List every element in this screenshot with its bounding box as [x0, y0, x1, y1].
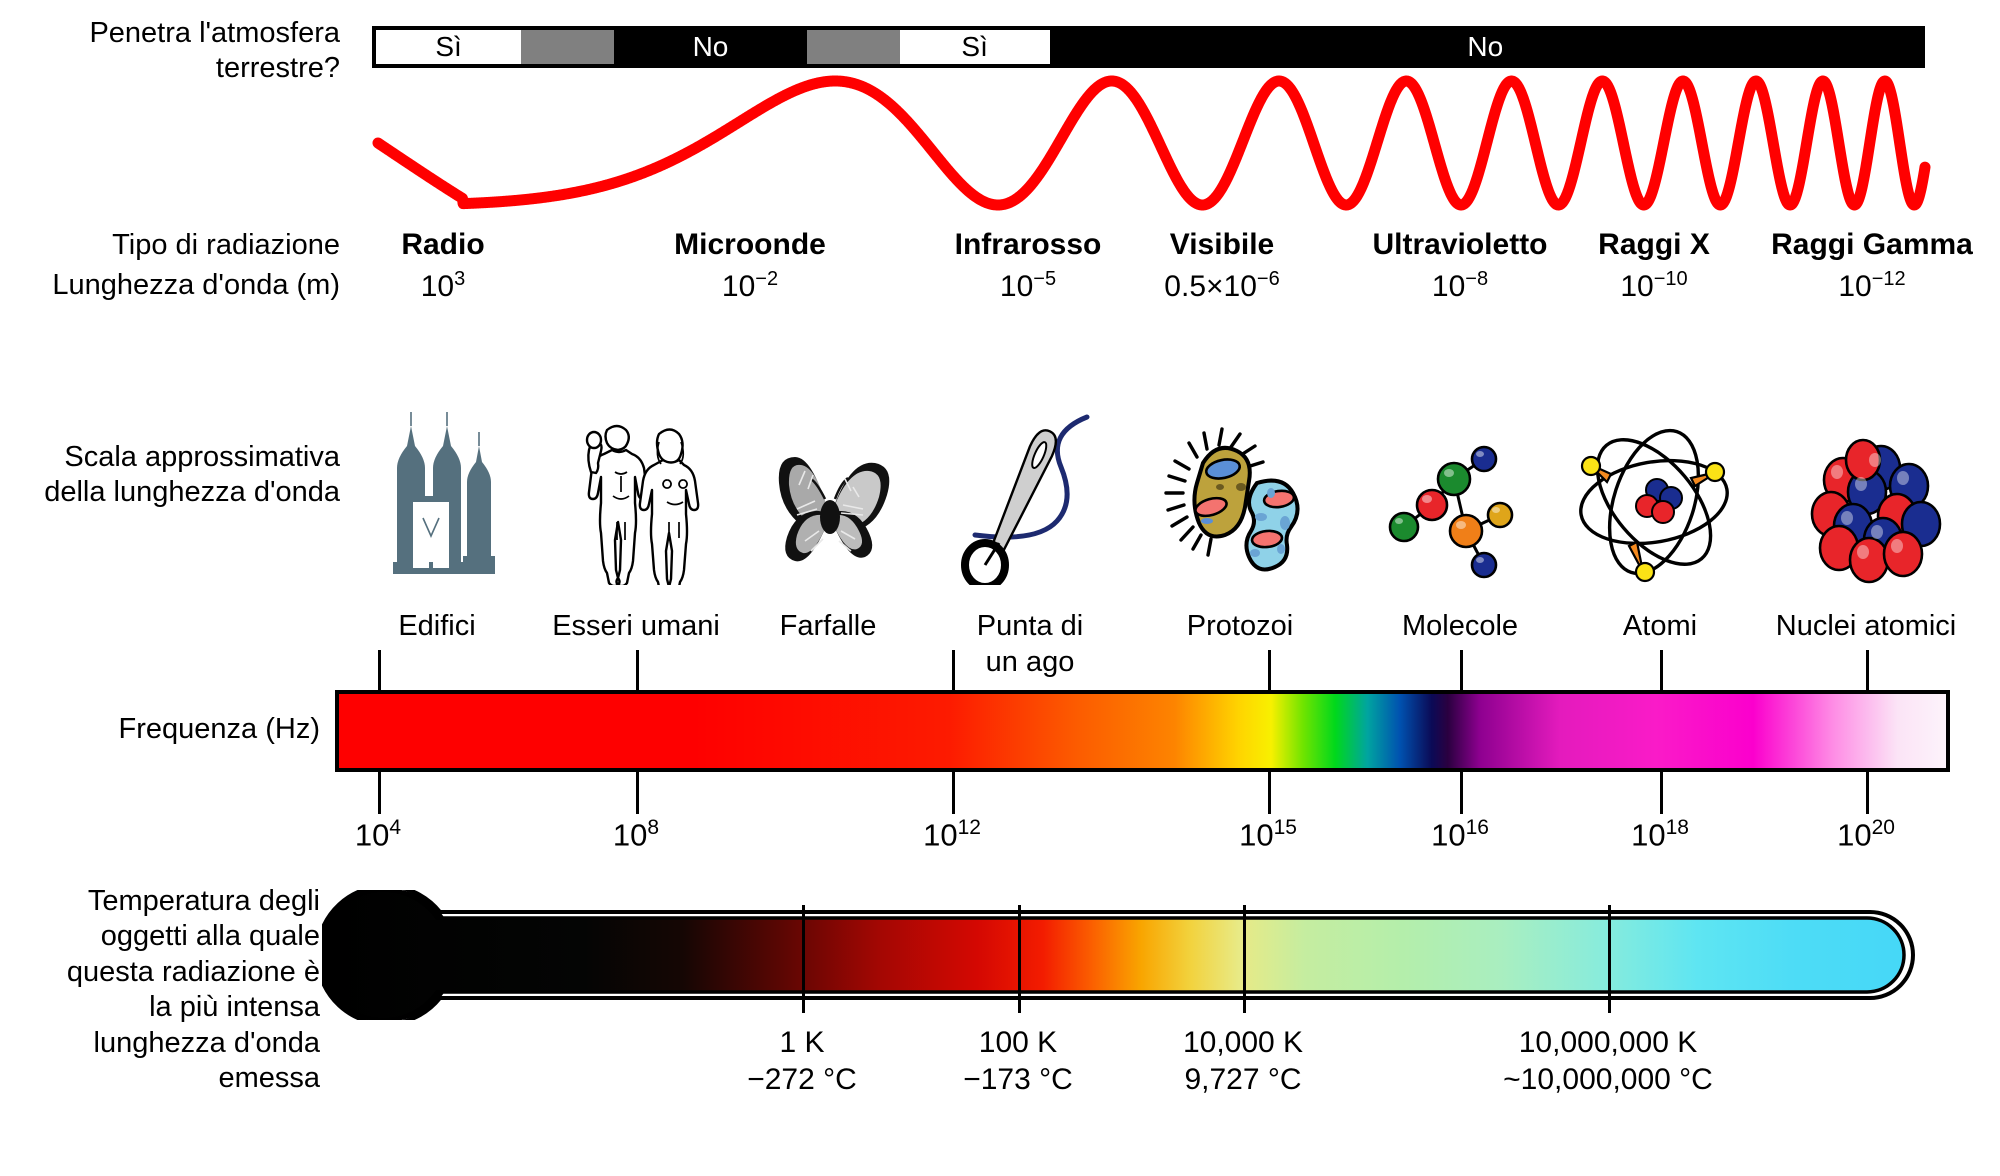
frequency-mantissa: 10 [1239, 817, 1273, 852]
wavelength-exponent: −2 [755, 268, 778, 290]
wave-graphic [340, 70, 1960, 215]
wavelength-value-6: 10−12 [1838, 268, 1905, 304]
radiation-type-row: RadioMicroondeInfrarossoVisibileUltravio… [0, 228, 2000, 264]
frequency-mantissa: 10 [1631, 817, 1665, 852]
temperature-kelvin: 100 K [963, 1025, 1073, 1062]
atmosphere-penetration-bar: SìNoSìNo [372, 26, 1925, 68]
temperature-celsius: −173 °C [963, 1062, 1073, 1099]
row-label-temperature: Temperatura deglioggetti alla qualequest… [0, 884, 320, 1096]
radiation-type-3: Visibile [1170, 228, 1275, 262]
frequency-exponent: 12 [958, 816, 981, 839]
em-spectrum-diagram: Penetra l'atmosferaterrestre? SìNoSìNo T… [0, 0, 2000, 1176]
frequency-tick-up-3 [1268, 650, 1271, 694]
atmosphere-segment-label: Sì [961, 33, 987, 61]
temperature-tick-0 [802, 905, 805, 1013]
wavelength-mantissa: 10 [421, 270, 454, 303]
frequency-mantissa: 10 [355, 817, 389, 852]
temperature-tick-label-2: 10,000 K9,727 °C [1183, 1025, 1303, 1099]
temperature-tick-label-1: 100 K−173 °C [963, 1025, 1073, 1099]
wavelength-row: 10310−210−50.5×10−610−810−1010−12 [0, 268, 2000, 308]
frequency-tick-label-2: 1012 [923, 816, 981, 853]
frequency-tick-label-4: 1016 [1431, 816, 1489, 853]
frequency-tick-down-0 [378, 768, 381, 814]
butterfly-icon [725, 360, 935, 585]
thermometer-graphic [322, 890, 1960, 1020]
atom-icon [1549, 360, 1759, 585]
frequency-exponent: 20 [1872, 816, 1895, 839]
wavelength-exponent: −10 [1654, 268, 1688, 290]
scale-icon-row [0, 360, 2000, 585]
frequency-spectrum-bar [335, 690, 1950, 772]
frequency-exponent: 8 [647, 816, 659, 839]
temperature-kelvin: 10,000 K [1183, 1025, 1303, 1062]
molecule-icon [1355, 360, 1565, 585]
temperature-tick-label-3: 10,000,000 K~10,000,000 °C [1503, 1025, 1713, 1099]
temperature-kelvin: 1 K [747, 1025, 857, 1062]
frequency-tick-down-6 [1866, 768, 1869, 814]
frequency-exponent: 15 [1274, 816, 1297, 839]
temperature-celsius: ~10,000,000 °C [1503, 1062, 1713, 1099]
wavelength-value-1: 10−2 [722, 268, 778, 304]
wavelength-mantissa: 10 [1838, 270, 1871, 303]
frequency-tick-up-1 [636, 650, 639, 694]
frequency-tick-up-4 [1460, 650, 1463, 694]
temperature-celsius: −272 °C [747, 1062, 857, 1099]
frequency-exponent: 4 [389, 816, 401, 839]
frequency-tick-down-3 [1268, 768, 1271, 814]
temperature-tick-3 [1608, 905, 1611, 1013]
frequency-mantissa: 10 [613, 817, 647, 852]
wavelength-mantissa: 10 [722, 270, 755, 303]
radiation-type-2: Infrarosso [955, 228, 1102, 262]
scale-name-6: Atomi [1623, 608, 1697, 644]
row-label-atmosphere: Penetra l'atmosferaterrestre? [10, 16, 340, 87]
atmosphere-segment-part-3 [807, 30, 900, 64]
frequency-tick-down-2 [952, 768, 955, 814]
wavelength-mantissa: 10 [1432, 270, 1465, 303]
radiation-type-5: Raggi X [1598, 228, 1710, 262]
frequency-tick-up-5 [1660, 650, 1663, 694]
wavelength-value-0: 103 [421, 268, 466, 304]
frequency-tick-down-5 [1660, 768, 1663, 814]
frequency-tick-label-3: 1015 [1239, 816, 1297, 853]
frequency-tick-up-0 [378, 650, 381, 694]
wavelength-exponent: −5 [1033, 268, 1056, 290]
atmosphere-segment-part-1 [521, 30, 614, 64]
radiation-type-0: Radio [401, 228, 484, 262]
frequency-mantissa: 10 [1431, 817, 1465, 852]
frequency-tick-label-1: 108 [613, 816, 659, 853]
temperature-tick-label-0: 1 K−272 °C [747, 1025, 857, 1099]
atmosphere-segment-no-2: No [614, 30, 807, 64]
scale-name-row: EdificiEsseri umaniFarfallePunta diun ag… [0, 608, 2000, 678]
wavelength-mantissa: 0.5×10 [1164, 270, 1257, 303]
scale-name-1: Esseri umani [552, 608, 720, 644]
scale-name-4: Protozoi [1187, 608, 1293, 644]
wavelength-exponent: −6 [1257, 268, 1280, 290]
frequency-tick-up-6 [1866, 650, 1869, 694]
frequency-tick-down-4 [1460, 768, 1463, 814]
temperature-kelvin: 10,000,000 K [1503, 1025, 1713, 1062]
frequency-tick-label-6: 1020 [1837, 816, 1895, 853]
wavelength-mantissa: 10 [1620, 270, 1653, 303]
row-label-frequency: Frequenza (Hz) [10, 712, 320, 747]
temperature-tick-2 [1243, 905, 1246, 1013]
wavelength-value-4: 10−8 [1432, 268, 1488, 304]
wavelength-exponent: −8 [1465, 268, 1488, 290]
atmosphere-segment-yes-4: Sì [900, 30, 1050, 64]
atmosphere-segment-label: No [1467, 33, 1503, 61]
frequency-mantissa: 10 [923, 817, 957, 852]
wavelength-exponent: 3 [454, 268, 465, 290]
radiation-type-1: Microonde [674, 228, 826, 262]
wavelength-value-2: 10−5 [1000, 268, 1056, 304]
frequency-tick-label-0: 104 [355, 816, 401, 853]
scale-name-0: Edifici [398, 608, 475, 644]
frequency-mantissa: 10 [1837, 817, 1871, 852]
wavelength-value-3: 0.5×10−6 [1164, 268, 1279, 304]
frequency-gradient [339, 694, 1946, 768]
temperature-celsius: 9,727 °C [1183, 1062, 1303, 1099]
atmosphere-segment-label: Sì [435, 33, 461, 61]
atmosphere-segment-label: No [693, 33, 729, 61]
needle-icon [917, 360, 1127, 585]
frequency-tick-down-1 [636, 768, 639, 814]
frequency-tick-label-5: 1018 [1631, 816, 1689, 853]
frequency-tick-up-2 [952, 650, 955, 694]
human-figures-icon [525, 360, 735, 585]
protozoa-icon [1150, 360, 1360, 585]
wavelength-mantissa: 10 [1000, 270, 1033, 303]
wavelength-value-5: 10−10 [1620, 268, 1687, 304]
wavelength-exponent: −12 [1872, 268, 1906, 290]
frequency-exponent: 18 [1666, 816, 1689, 839]
temperature-tick-1 [1018, 905, 1021, 1013]
radiation-type-6: Raggi Gamma [1771, 228, 1973, 262]
nucleus-icon [1767, 360, 1977, 585]
radiation-type-4: Ultravioletto [1372, 228, 1547, 262]
atmosphere-segment-yes-0: Sì [376, 30, 521, 64]
scale-name-3: Punta diun ago [977, 608, 1083, 681]
scale-name-5: Molecole [1402, 608, 1518, 644]
skyscrapers-icon [338, 360, 548, 585]
frequency-exponent: 16 [1466, 816, 1489, 839]
scale-name-2: Farfalle [780, 608, 877, 644]
atmosphere-segment-no-5: No [1050, 30, 1921, 64]
scale-name-7: Nuclei atomici [1776, 608, 1957, 644]
